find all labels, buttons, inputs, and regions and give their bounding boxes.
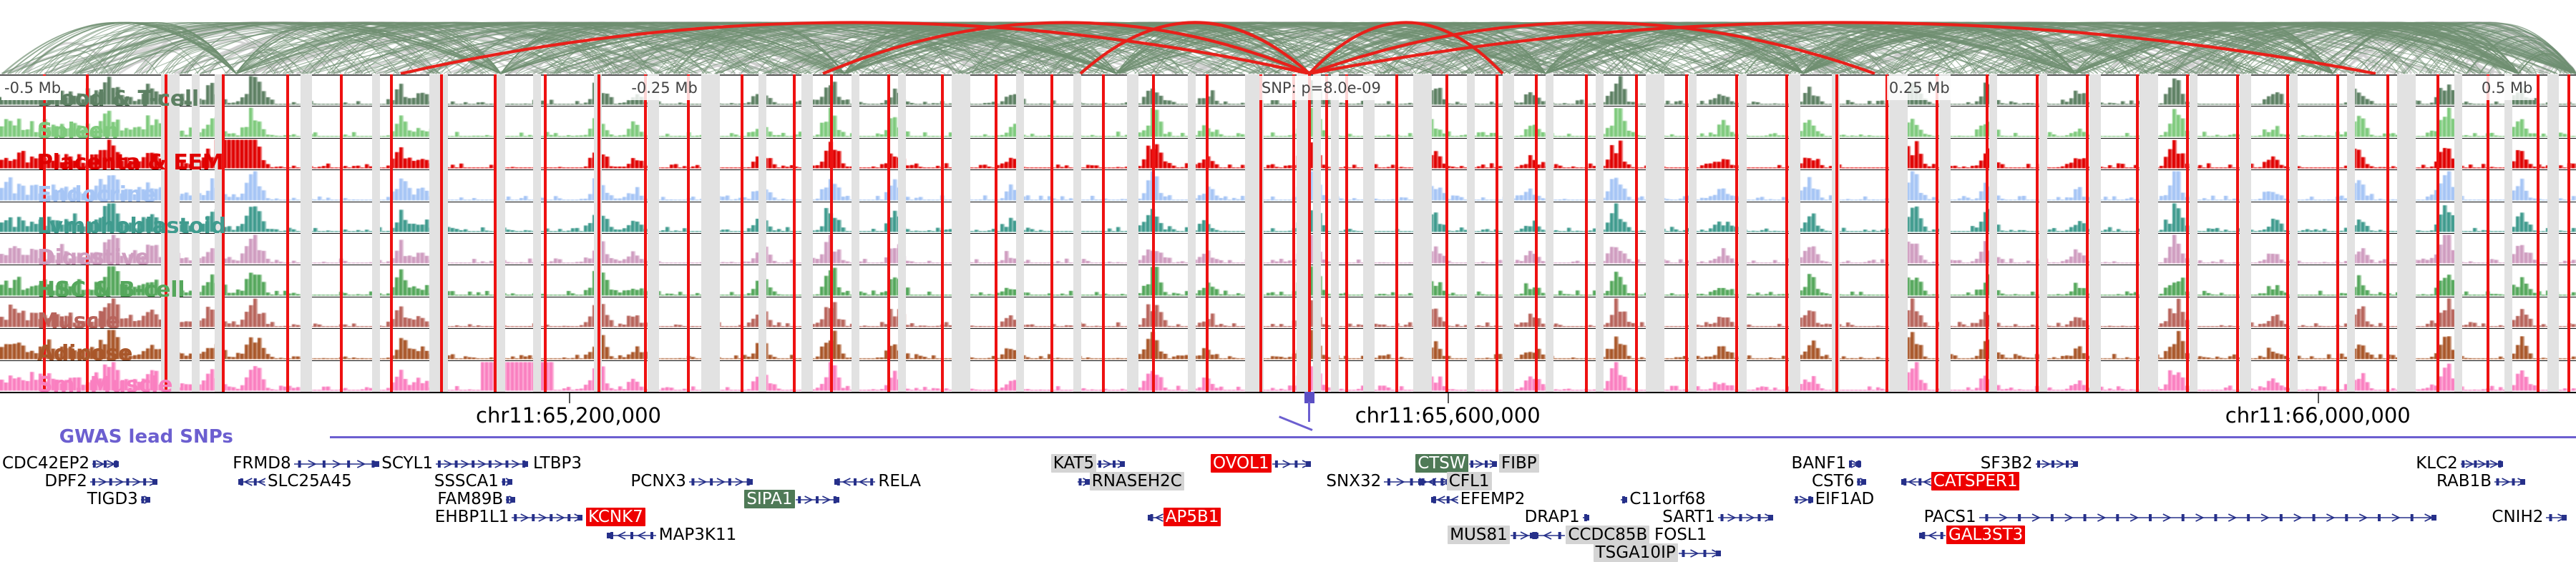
gene-annotation[interactable]: FIBP [1499, 455, 1539, 472]
gene-annotation[interactable]: FAM89B [435, 490, 515, 508]
gene-name-label: EHBP1L1 [433, 508, 512, 526]
gene-annotation[interactable]: SIPA1 [744, 490, 839, 508]
gene-name-label: FRMD8 [230, 454, 293, 473]
gene-model [1530, 531, 1566, 541]
gene-annotation[interactable]: LTBP3 [531, 455, 584, 472]
gene-name-label: AP5B1 [1163, 508, 1221, 526]
gene-name-label: TIGD3 [85, 490, 140, 508]
gene-row: EHBP1L1KCNK7AP5B1DRAP1SART1PACS1CNIH2 [0, 508, 2576, 526]
signal-track-panel: Blood & T-cell Spleen Placenta & EEM End… [0, 74, 2576, 392]
gene-name-label: CATSPER1 [1931, 472, 2020, 490]
gene-annotation[interactable]: OVOL1 [1211, 455, 1311, 472]
gene-model [1096, 459, 1125, 469]
gene-annotation[interactable]: PACS1 [1922, 508, 2436, 526]
gene-name-label: LTBP3 [531, 454, 584, 473]
gene-annotation[interactable]: SF3B2 [1979, 455, 2078, 472]
track-label: Adipose [37, 343, 132, 361]
gene-model [1272, 459, 1311, 469]
axis-tick [2318, 393, 2319, 403]
chromatin-interaction-arc-panel [0, 0, 2576, 74]
signal-track: Adipose [0, 328, 2576, 360]
axis-position-label: chr11:66,000,000 [2225, 403, 2411, 428]
gene-annotation[interactable]: CATSPER1 [1901, 473, 2020, 490]
gene-annotation[interactable]: FOSL1 [1652, 526, 1709, 543]
gene-name-label: CNIH2 [2489, 508, 2545, 526]
signal-track: Sm. Muscle [0, 360, 2576, 393]
gene-name-label: MAP3K11 [657, 526, 738, 544]
gene-name-label: EFEMP2 [1458, 490, 1528, 508]
gene-model [2460, 459, 2503, 469]
gene-model [1148, 513, 1163, 523]
gene-model [1077, 477, 1090, 487]
gene-row: TSGA10IP [0, 544, 2576, 561]
gene-name-label: SSSCA1 [432, 472, 501, 490]
gene-annotation[interactable]: SLC25A45 [238, 473, 354, 490]
gene-model [1678, 548, 1721, 558]
track-label: Placenta & EEM [37, 152, 223, 170]
gene-annotation[interactable]: DRAP1 [1523, 508, 1589, 526]
gene-model [505, 495, 515, 505]
signal-track: HSC & B-cell [0, 265, 2576, 297]
genome-axis-and-gene-panel: chr11:65,200,000chr11:65,600,000chr11:66… [0, 392, 2576, 536]
gene-model [795, 495, 839, 505]
gene-model [1418, 477, 1447, 487]
gene-annotation[interactable]: CCDC85B [1530, 526, 1649, 543]
gene-row: CDC42EP2FRMD8SCYL1LTBP3KAT5OVOL1CTSWFIBP… [0, 455, 2576, 472]
gene-annotation[interactable]: SART1 [1660, 508, 1773, 526]
gene-annotation[interactable]: RNASEH2C [1077, 473, 1184, 490]
gene-model [89, 477, 157, 487]
gene-name-label: FOSL1 [1652, 526, 1709, 544]
gene-name-label: CTSW [1415, 454, 1468, 473]
gene-model [435, 459, 528, 469]
gene-annotation[interactable]: CTSW [1415, 455, 1496, 472]
gene-model [1468, 459, 1497, 469]
signal-track: Lymphoblastoid [0, 202, 2576, 234]
gene-annotation[interactable]: KLC2 [2414, 455, 2503, 472]
gene-annotation[interactable]: C11orf68 [1620, 490, 1707, 508]
gene-name-label: KAT5 [1051, 454, 1096, 473]
gene-model [1717, 513, 1773, 523]
gene-model [293, 459, 379, 469]
signal-track: Muscle [0, 297, 2576, 329]
gene-model [1856, 477, 1866, 487]
gene-annotation[interactable]: EHBP1L1 [433, 508, 583, 526]
gene-name-label: SLC25A45 [265, 472, 354, 490]
gene-name-label: EIF1AD [1813, 490, 1877, 508]
axis-position-label: chr11:65,600,000 [1355, 403, 1541, 428]
gene-annotation[interactable]: DPF2 [42, 473, 157, 490]
gene-name-label: FAM89B [435, 490, 505, 508]
gene-model [834, 477, 876, 487]
gene-annotation[interactable]: CFL1 [1418, 473, 1492, 490]
gene-annotation[interactable]: TSGA10IP [1594, 544, 1721, 561]
gene-model [1979, 513, 2436, 523]
gene-name-label: C11orf68 [1627, 490, 1707, 508]
track-label: HSC & B-cell [37, 280, 185, 297]
gene-model [1582, 513, 1589, 523]
gene-annotation[interactable]: GAL3ST3 [1919, 526, 2025, 543]
gene-name-label: DRAP1 [1523, 508, 1582, 526]
gene-name-label: RELA [876, 472, 923, 490]
track-signal-canvas [0, 233, 2576, 265]
gwas-leader-horizontal [330, 436, 1277, 438]
gene-name-label: OVOL1 [1211, 454, 1272, 473]
gene-model [1431, 495, 1458, 505]
gene-annotation[interactable]: RAB1B [2434, 473, 2525, 490]
gene-annotation[interactable]: SCYL1 [379, 455, 528, 472]
signal-track: Placenta & EEM [0, 138, 2576, 170]
gwas-leader-vertical [1308, 402, 1310, 422]
gene-annotation[interactable]: CDC42EP2 [0, 455, 119, 472]
ruler-tick-label: SNP: p=8.0e-09 [1259, 76, 1383, 100]
ruler-tick-label: -0.25 Mb [629, 76, 699, 100]
gene-name-label: SNX32 [1324, 472, 1383, 490]
gene-name-label: RAB1B [2434, 472, 2494, 490]
gene-annotation[interactable]: CNIH2 [2489, 508, 2567, 526]
track-label: Lymphoblastoid [37, 216, 226, 234]
gene-annotation[interactable]: MAP3K11 [607, 526, 738, 543]
gene-name-label: CST6 [1810, 472, 1856, 490]
axis-tick [1448, 393, 1449, 403]
signal-track: Spleen [0, 106, 2576, 138]
track-label: Muscle [37, 311, 120, 329]
gene-name-label: FIBP [1499, 454, 1539, 473]
track-signal-canvas [0, 169, 2576, 201]
gene-annotation[interactable]: KAT5 [1051, 455, 1125, 472]
gene-annotation[interactable]: RELA [834, 473, 923, 490]
track-signal-canvas [0, 202, 2576, 233]
track-signal-canvas [0, 297, 2576, 328]
track-signal-canvas [0, 138, 2576, 169]
gene-model [1919, 531, 1946, 541]
track-label: Endocrine [37, 184, 156, 202]
gene-name-label: KLC2 [2414, 454, 2460, 473]
gwas-lead-snps-label: GWAS lead SNPs [59, 426, 233, 448]
gene-model [511, 513, 582, 523]
gene-annotation[interactable]: KCNK7 [586, 508, 645, 526]
gene-annotation[interactable]: CST6 [1810, 473, 1866, 490]
gene-annotation[interactable]: MUS81 [1448, 526, 1538, 543]
gene-model [688, 477, 753, 487]
gene-name-label: BANF1 [1790, 454, 1849, 473]
track-label: Sm. Muscle [37, 375, 172, 393]
gene-model [1901, 477, 1931, 487]
signal-track: Digestive [0, 233, 2576, 265]
gene-name-label: MUS81 [1448, 526, 1510, 544]
gene-model [92, 459, 119, 469]
gene-name-label: CDC42EP2 [0, 454, 92, 473]
gene-annotation[interactable]: BANF1 [1790, 455, 1862, 472]
gene-name-label: PCNX3 [628, 472, 688, 490]
scale-label-left: -0.5 Mb [1, 76, 61, 100]
track-label: Digestive [37, 247, 150, 265]
axis-line [0, 392, 2576, 393]
gene-name-label: GAL3ST3 [1946, 526, 2025, 544]
gene-name-label: SIPA1 [744, 490, 794, 508]
gene-annotation[interactable]: AP5B1 [1148, 508, 1221, 526]
track-signal-canvas [0, 265, 2576, 296]
gene-name-label: SART1 [1660, 508, 1717, 526]
axis-position-label: chr11:65,200,000 [476, 403, 661, 428]
gene-model [140, 495, 150, 505]
gene-row: MAP3K11MUS81CCDC85BFOSL1GAL3ST3 [0, 526, 2576, 543]
gene-name-label: TSGA10IP [1594, 543, 1678, 562]
track-signal-canvas [0, 106, 2576, 137]
gene-name-label: CFL1 [1447, 472, 1492, 490]
gene-model [607, 531, 657, 541]
gene-name-label: RNASEH2C [1090, 472, 1184, 490]
track-label: Blood & T-cell [37, 89, 199, 107]
gene-name-label: SF3B2 [1979, 454, 2035, 473]
gene-model [2494, 477, 2525, 487]
gene-name-label: PACS1 [1922, 508, 1979, 526]
track-label: Spleen [37, 121, 119, 139]
gene-name-label: SCYL1 [379, 454, 435, 473]
gene-annotation[interactable]: EFEMP2 [1431, 490, 1528, 508]
track-signal-canvas [0, 360, 2576, 392]
gene-annotation[interactable]: EIF1AD [1793, 490, 1877, 508]
gene-name-label: KCNK7 [586, 508, 645, 526]
gene-annotation[interactable]: FRMD8 [230, 455, 379, 472]
gene-annotation[interactable]: TIGD3 [85, 490, 150, 508]
ruler-tick-label: 0.5 Mb [2479, 76, 2535, 100]
signal-track: Endocrine [0, 169, 2576, 202]
gene-model [1848, 459, 1861, 469]
gene-model [1620, 495, 1627, 505]
gene-model [2035, 459, 2078, 469]
axis-tick [569, 393, 570, 403]
gene-annotation[interactable]: SSSCA1 [432, 473, 512, 490]
gene-row: DPF2SLC25A45SSSCA1PCNX3RELARNASEH2CSNX32… [0, 473, 2576, 490]
gene-row: TIGD3FAM89BSIPA1EFEMP2C11orf68EIF1AD [0, 490, 2576, 508]
gene-annotation[interactable]: PCNX3 [628, 473, 753, 490]
track-signal-canvas [0, 328, 2576, 360]
ruler-tick-label: 0.25 Mb [1887, 76, 1952, 100]
arc-svg [0, 0, 2576, 74]
gene-name-label: DPF2 [42, 472, 89, 490]
gene-model [2545, 513, 2567, 523]
gene-model [501, 477, 512, 487]
gene-model [238, 477, 265, 487]
gene-model [1793, 495, 1813, 505]
gene-name-label: CCDC85B [1566, 526, 1649, 544]
